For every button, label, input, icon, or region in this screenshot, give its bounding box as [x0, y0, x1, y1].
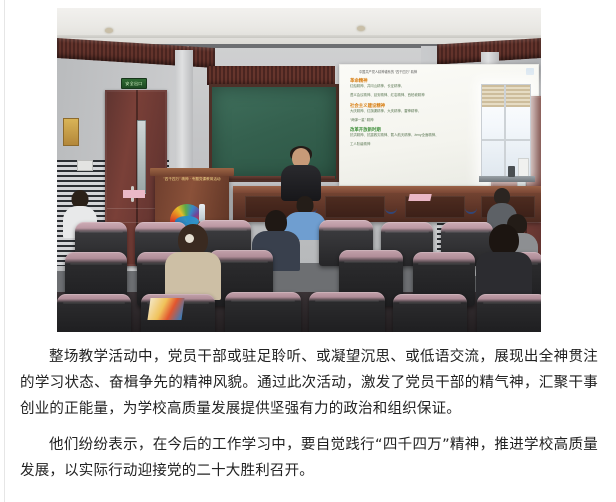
article-body: 整场教学活动中，党员干部或驻足聆听、或凝望沉思、或低语交流，展现出全神贯注的学习… — [20, 344, 598, 494]
wall-socket-plate — [77, 160, 93, 171]
window-blind — [482, 85, 530, 107]
desk-cable — [385, 194, 397, 214]
seat — [225, 292, 301, 332]
speaker-person — [279, 148, 323, 200]
fire-alarm-box — [63, 118, 79, 146]
seat — [57, 294, 131, 332]
article-paragraph: 整场教学活动中，党员干部或驻足聆听、或凝望沉思、或低语交流，展现出全神贯注的学习… — [20, 344, 598, 422]
ceiling-fixture-icon — [357, 26, 365, 31]
article-paragraph: 他们纷纷表示，在今后的工作学习中，要自觉践行“四千四万”精神，推进学校高质量发展… — [20, 432, 598, 484]
slide-title-text: 中国共产党人精神谱系的 “四千四万” 精神 — [359, 70, 417, 74]
desk-cable — [465, 194, 477, 214]
person-body — [165, 252, 221, 300]
booklet — [147, 298, 184, 320]
ceiling-seam — [57, 35, 541, 38]
classroom-scene: 安全出口 中国共产党人精神谱系的 “四千四万” 精神 革命精神 红船精神、井冈山… — [57, 8, 541, 332]
window-mullion — [504, 85, 506, 179]
ceiling — [57, 8, 541, 44]
podium-banner-text: "四千四万" 精神 · 专题党课教育活动 — [161, 176, 223, 183]
window-sill — [479, 176, 535, 182]
slide-section-heading: 革命精神 — [350, 78, 532, 83]
ceiling-fixture-icon — [105, 28, 113, 33]
hair-accessory — [185, 234, 194, 243]
seat — [309, 292, 385, 332]
slide-title: 中国共产党人精神谱系的 “四千四万” 精神 — [355, 70, 532, 74]
seat — [477, 294, 541, 332]
page-left-rule — [4, 0, 5, 502]
podium-top — [150, 168, 234, 176]
desk-paper — [123, 190, 145, 198]
article-page: 安全出口 中国共产党人精神谱系的 “四千四万” 精神 革命精神 红船精神、井冈山… — [0, 0, 616, 502]
article-photo: 安全出口 中国共产党人精神谱系的 “四千四万” 精神 革命精神 红船精神、井冈山… — [57, 8, 541, 332]
window-mullion — [482, 139, 530, 141]
wall-notice — [518, 158, 529, 178]
desk-paper — [408, 194, 431, 201]
desk-panel — [325, 196, 385, 218]
audience-person — [477, 224, 531, 298]
sill-object — [508, 166, 515, 177]
chalkboard-valance — [207, 66, 335, 85]
exit-sign-label: 安全出口 — [125, 82, 142, 86]
exit-sign-icon: 安全出口 — [121, 78, 147, 89]
seat — [393, 294, 467, 332]
door-vision-panel — [137, 120, 146, 194]
